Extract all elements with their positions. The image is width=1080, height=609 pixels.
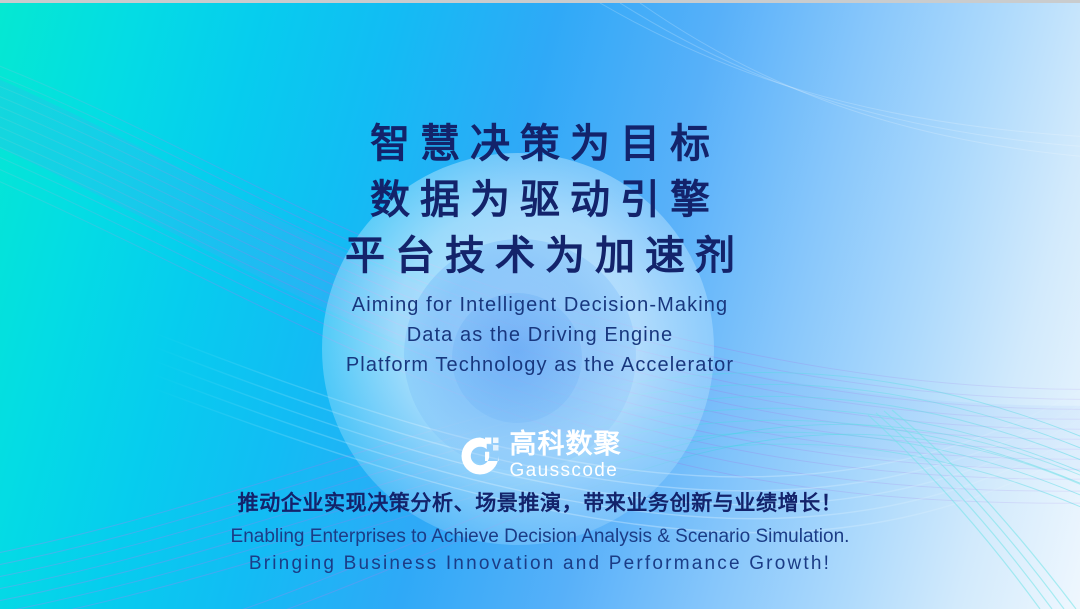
logo-name-english: Gausscode [510,461,622,480]
logo-name-chinese: 高科数聚 [510,431,622,458]
subheadline-line-1: Aiming for Intelligent Decision-Making [0,290,1080,320]
banner-content: 智慧决策为目标 数据为驱动引擎 平台技术为加速剂 Aiming for Inte… [0,3,1080,609]
headline-line-2: 数据为驱动引擎 [0,172,1080,228]
banner-canvas: 智慧决策为目标 数据为驱动引擎 平台技术为加速剂 Aiming for Inte… [0,0,1080,609]
tagline-english: Enabling Enterprises to Achieve Decision… [0,523,1080,577]
tagline-chinese: 推动企业实现决策分析、场景推演，带来业务创新与业绩增长！ [0,487,1080,517]
headline-line-1: 智慧决策为目标 [0,116,1080,172]
subheadline-line-3: Platform Technology as the Accelerator [0,350,1080,380]
gausscode-g-logo-icon [459,435,501,477]
logo-wordmark: 高科数聚 Gausscode [510,431,622,480]
subheadline-english: Aiming for Intelligent Decision-Making D… [0,290,1080,380]
tagline-english-line-2: Bringing Business Innovation and Perform… [0,550,1080,577]
headline-chinese: 智慧决策为目标 数据为驱动引擎 平台技术为加速剂 [0,116,1080,284]
tagline-english-line-1: Enabling Enterprises to Achieve Decision… [0,523,1080,550]
headline-line-3: 平台技术为加速剂 [0,228,1080,284]
subheadline-line-2: Data as the Driving Engine [0,320,1080,350]
company-logo: 高科数聚 Gausscode [0,431,1080,480]
